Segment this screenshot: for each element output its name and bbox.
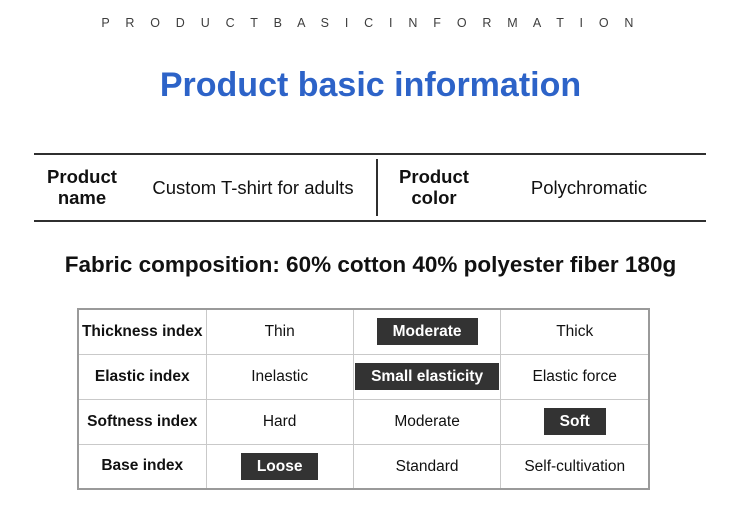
option-label-selected: Soft	[544, 408, 606, 435]
option-cell-standard[interactable]: Standard	[353, 444, 501, 489]
option-cell-moderate[interactable]: Moderate	[353, 309, 501, 354]
product-color-value: Polychromatic	[480, 177, 698, 199]
row-label-softness: Softness index	[78, 399, 206, 444]
option-label-selected: Moderate	[377, 318, 478, 345]
option-label: Inelastic	[237, 363, 322, 390]
row-label-elastic: Elastic index	[78, 354, 206, 399]
table-row: Elastic index Inelastic Small elasticity…	[78, 354, 649, 399]
option-label: Hard	[249, 408, 311, 435]
product-color-label: Product color	[388, 167, 480, 208]
index-table-body: Thickness index Thin Moderate Thick Elas…	[78, 309, 649, 489]
product-name-label-cell: Product name	[34, 155, 130, 220]
option-label: Moderate	[380, 408, 473, 435]
option-label: Thick	[542, 318, 607, 345]
product-color-value-cell: Polychromatic	[480, 155, 698, 220]
product-color-label-cell: Product color	[388, 155, 480, 220]
product-name-value: Custom T-shirt for adults	[130, 177, 376, 199]
table-row: Base index Loose Standard Self-cultivati…	[78, 444, 649, 489]
product-name-value-cell: Custom T-shirt for adults	[130, 155, 376, 220]
option-label: Self-cultivation	[510, 453, 639, 480]
product-info-page: P R O D U C T B A S I C I N F O R M A T …	[0, 0, 741, 525]
info-band-divider	[376, 159, 378, 216]
option-label: Elastic force	[519, 363, 631, 390]
fabric-composition-text: Fabric composition: 60% cotton 40% polye…	[0, 252, 741, 278]
row-label-base: Base index	[78, 444, 206, 489]
table-row: Thickness index Thin Moderate Thick	[78, 309, 649, 354]
table-row: Softness index Hard Moderate Soft	[78, 399, 649, 444]
option-cell-moderate-softness[interactable]: Moderate	[353, 399, 501, 444]
option-cell-elastic-force[interactable]: Elastic force	[501, 354, 649, 399]
option-cell-loose[interactable]: Loose	[206, 444, 353, 489]
product-name-label: Product name	[36, 167, 128, 208]
page-title: Product basic information	[0, 66, 741, 105]
option-cell-thin[interactable]: Thin	[206, 309, 353, 354]
option-cell-self-cultivation[interactable]: Self-cultivation	[501, 444, 649, 489]
row-label-thickness: Thickness index	[78, 309, 206, 354]
option-cell-inelastic[interactable]: Inelastic	[206, 354, 353, 399]
option-label: Standard	[382, 453, 473, 480]
option-label: Thin	[251, 318, 309, 345]
option-cell-soft[interactable]: Soft	[501, 399, 649, 444]
option-label-selected: Small elasticity	[355, 363, 499, 390]
option-label-selected: Loose	[241, 453, 319, 480]
product-info-band: Product name Custom T-shirt for adults P…	[34, 153, 706, 222]
index-table: Thickness index Thin Moderate Thick Elas…	[77, 308, 650, 490]
option-cell-small-elasticity[interactable]: Small elasticity	[353, 354, 501, 399]
page-caption: P R O D U C T B A S I C I N F O R M A T …	[0, 16, 741, 30]
option-cell-thick[interactable]: Thick	[501, 309, 649, 354]
option-cell-hard[interactable]: Hard	[206, 399, 353, 444]
